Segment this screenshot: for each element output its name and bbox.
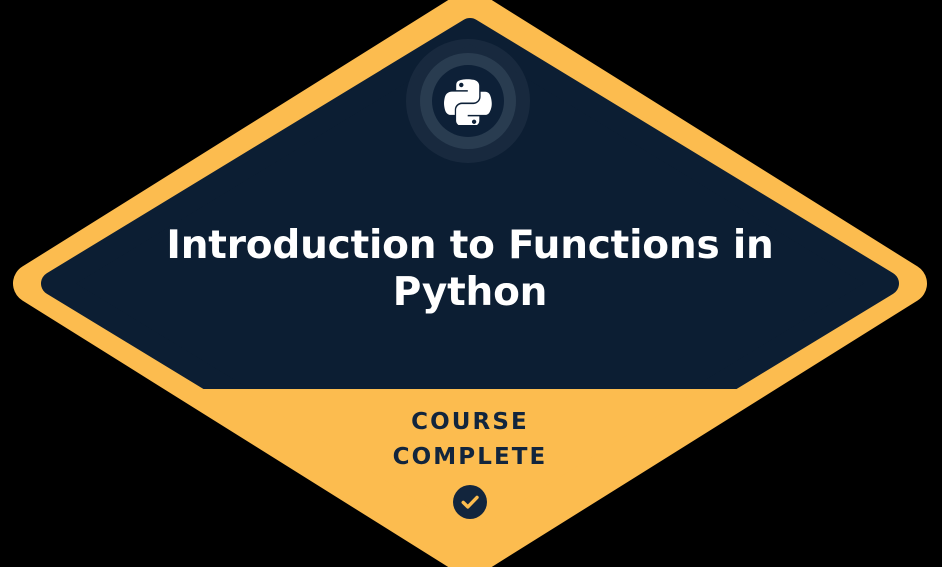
status-label-line-2: COMPLETE <box>171 440 769 475</box>
completion-status: COURSE COMPLETE <box>171 405 769 519</box>
check-circle-icon <box>453 485 487 519</box>
check-circle-background <box>453 485 487 519</box>
course-completion-badge: Introduction to Functions in Python COUR… <box>0 0 942 567</box>
page-title: Introduction to Functions in Python <box>121 222 819 316</box>
status-label-line-1: COURSE <box>171 405 769 440</box>
